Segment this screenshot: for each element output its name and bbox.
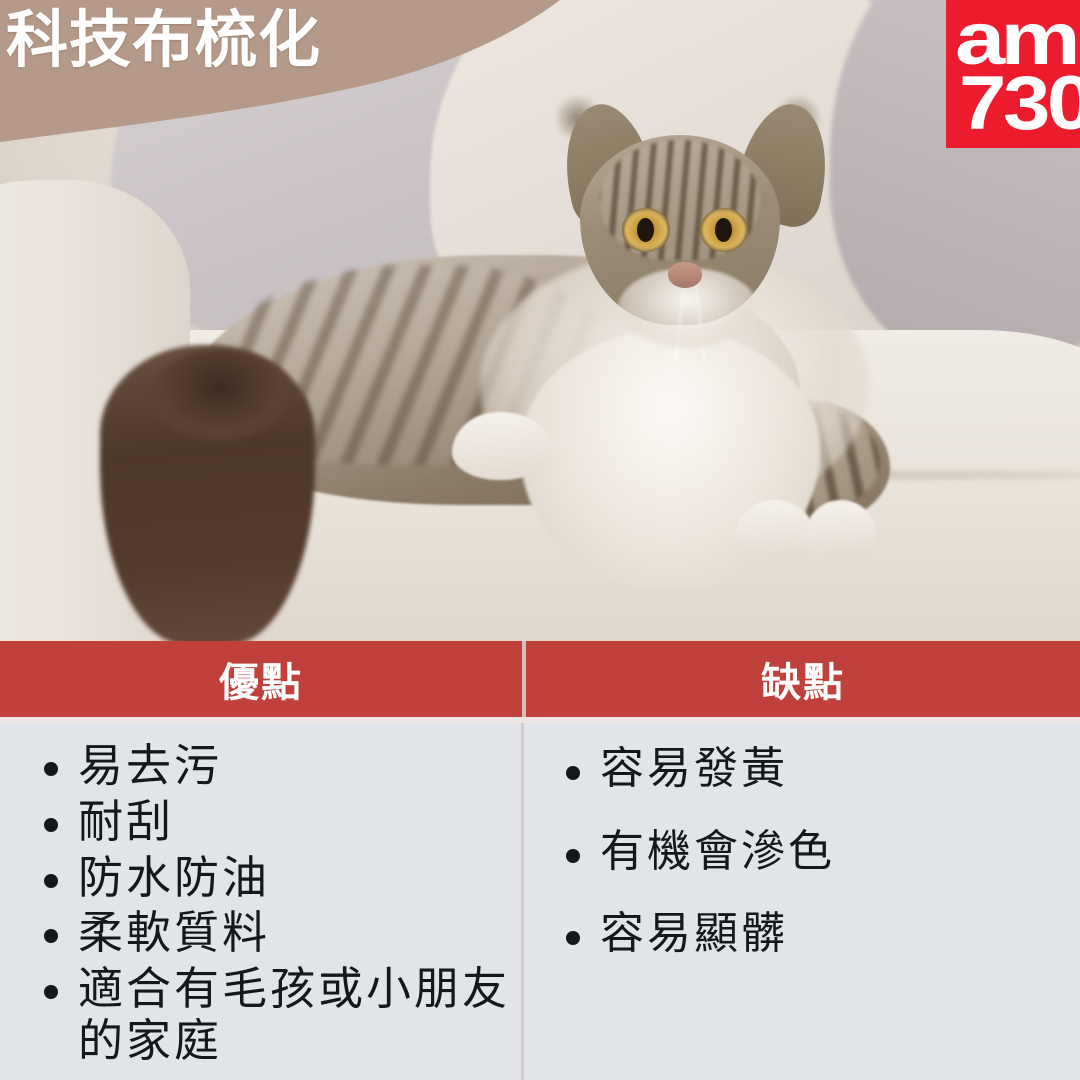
page-title: 科技布梳化 [6, 8, 526, 73]
list-item: 耐刮 [40, 796, 510, 848]
cat-paw-front-inner [736, 500, 814, 562]
cat-pupil-left [637, 218, 654, 242]
cons-list: 容易發黃有機會滲色容易顯髒 [562, 744, 1062, 992]
body-column-divider [521, 723, 524, 1080]
list-item: 容易發黃 [562, 744, 1062, 795]
list-item: 容易顯髒 [562, 909, 1062, 960]
list-item: 有機會滲色 [562, 827, 1062, 878]
column-header-pros: 優點 [0, 641, 522, 717]
infographic-card: 科技布梳化 am 730 優點 缺點 易去污耐刮防水防油柔軟質料適合有毛孩或小朋… [0, 0, 1080, 1080]
header-column-divider [522, 641, 526, 717]
comparison-table-header: 優點 缺點 [0, 641, 1080, 717]
cat-nose [668, 262, 702, 288]
cat-tail-base-tuft [150, 350, 290, 440]
column-header-cons: 缺點 [526, 641, 1080, 717]
list-item: 易去污 [40, 740, 510, 792]
list-item: 適合有毛孩或小朋友的家庭 [40, 963, 510, 1067]
cat-paw-front-outer [806, 500, 876, 560]
pros-list: 易去污耐刮防水防油柔軟質料適合有毛孩或小朋友的家庭 [40, 740, 510, 1071]
logo-text-730: 730 [959, 66, 1080, 142]
cat-pupil-right [715, 218, 732, 242]
am730-logo[interactable]: am 730 [946, 0, 1080, 148]
list-item: 柔軟質料 [40, 907, 510, 959]
list-item: 防水防油 [40, 852, 510, 904]
